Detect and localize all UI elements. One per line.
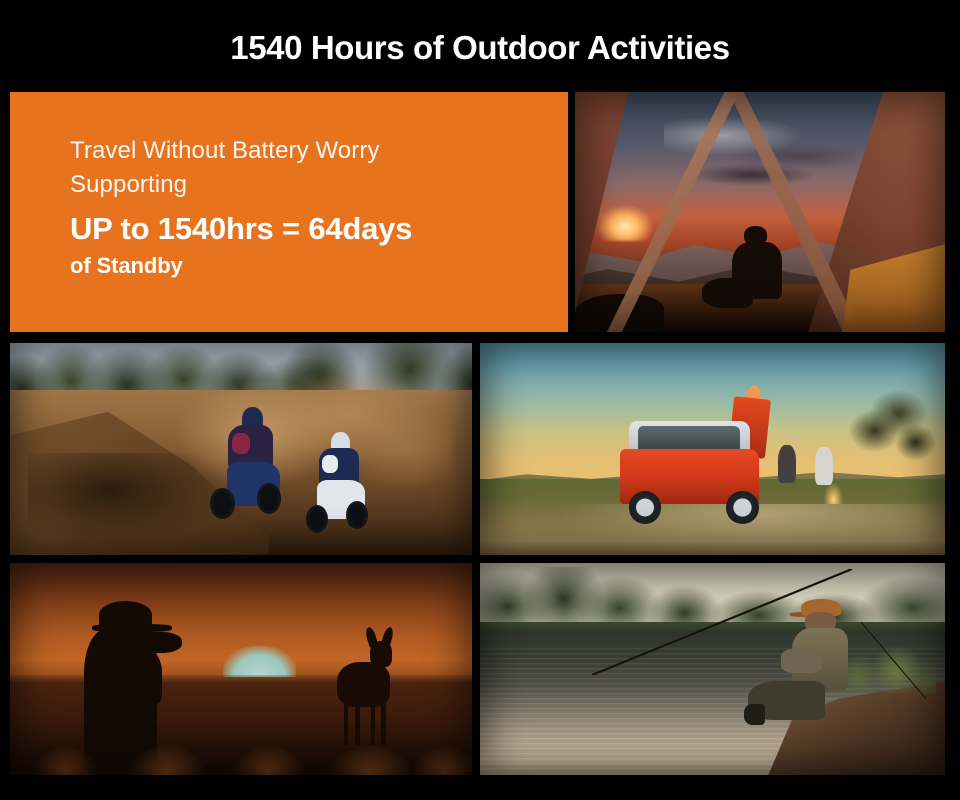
motocross-rider-back [306, 432, 380, 546]
seated-person-silhouette [727, 226, 790, 312]
person-legs [702, 278, 754, 307]
car-wheel-front [726, 491, 759, 524]
fisherman-arm [781, 649, 821, 673]
photographer-arm [127, 650, 162, 706]
promo-banner: 1540 Hours of Outdoor Activities Travel … [0, 0, 960, 800]
photographer-hat [99, 601, 152, 629]
seated-fisherman [787, 599, 857, 730]
seated-companion [815, 447, 834, 485]
dirt-bike-wheel-rear [210, 488, 235, 519]
lakeside-fishing-photo [480, 563, 945, 775]
wildlife-scene [10, 563, 472, 775]
car-windows [638, 426, 740, 449]
setting-sun-icon [223, 646, 297, 678]
rider-jersey-accent [232, 433, 250, 454]
second-fishing-rod [861, 622, 926, 698]
dirt-bike-wheel-front [346, 501, 368, 529]
motocross-riders-photo [10, 343, 472, 555]
feature-panel: Travel Without Battery Worry Supporting … [10, 92, 568, 332]
campfire-glow [824, 483, 843, 504]
sun-icon [597, 205, 653, 241]
tent-scene [575, 92, 945, 332]
feature-lead-line-2: Supporting [70, 171, 187, 198]
fisherman-boot [744, 704, 765, 725]
person-with-guitar [778, 445, 797, 483]
dirt-bike-wheel-rear [306, 505, 328, 533]
feature-lead-text: Travel Without Battery Worry Supporting [70, 134, 540, 202]
rider-jersey-accent [322, 455, 338, 473]
feature-highlight-text: UP to 1540hrs = 64days [70, 209, 568, 249]
page-title: 1540 Hours of Outdoor Activities [0, 28, 960, 68]
road-trip-scene [480, 343, 945, 555]
fishing-scene [480, 563, 945, 775]
foreground-grass [10, 724, 472, 775]
camping-tent-sunset-photo [575, 92, 945, 332]
feature-lead-line-1: Travel Without Battery Worry [70, 137, 380, 164]
roadside-tree [843, 390, 936, 488]
motocross-rider-front [213, 407, 296, 538]
motocross-scene [10, 343, 472, 555]
dirt-bike-wheel-front [257, 483, 282, 514]
car-wheel-rear [629, 491, 662, 524]
wildlife-photographer-photo [10, 563, 472, 775]
feature-subtext: of Standby [70, 251, 568, 281]
camera-lens-icon [139, 632, 182, 653]
road-trip-campfire-photo [480, 343, 945, 555]
